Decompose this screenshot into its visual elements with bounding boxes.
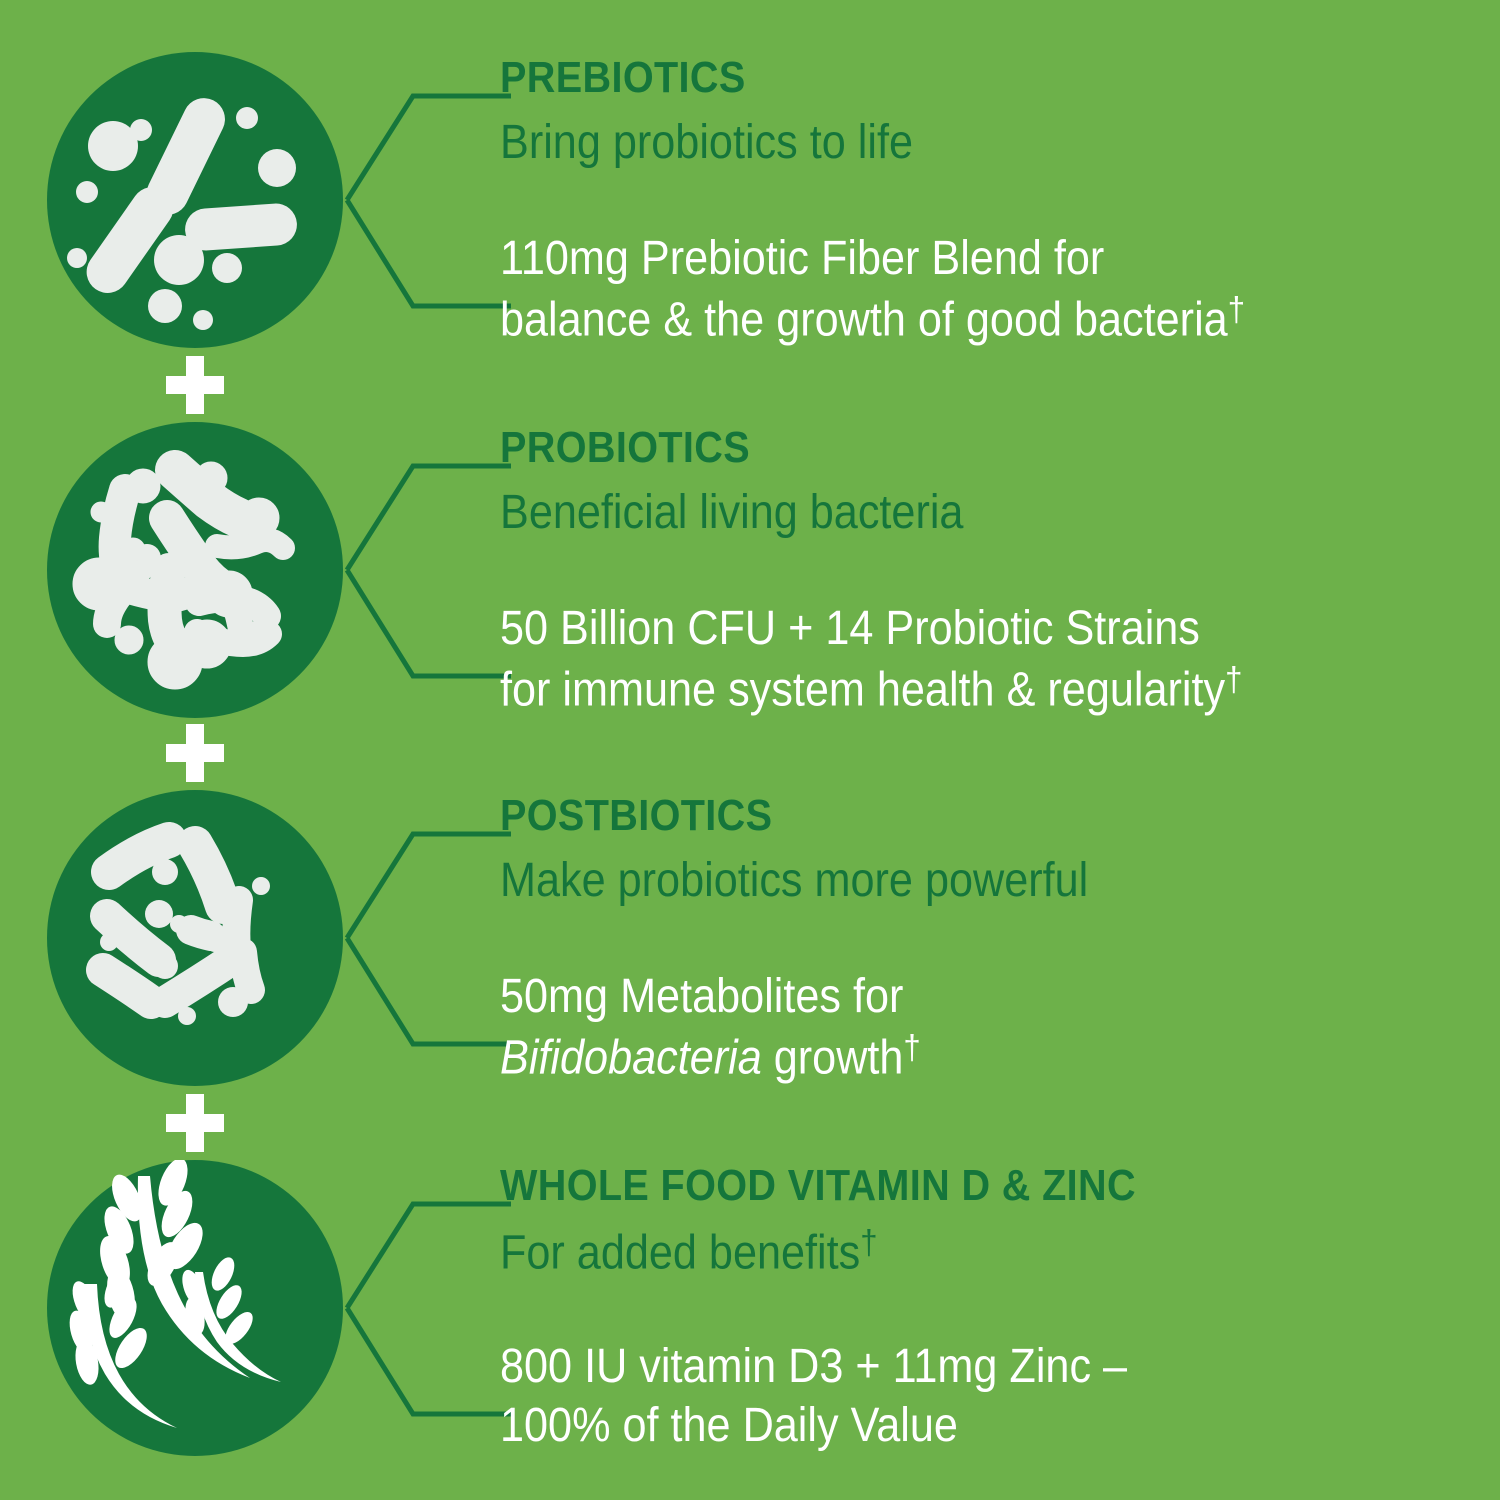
microbiome-network-icon — [47, 422, 343, 718]
detail-line-1: 50 Billion CFU + 14 Probiotic Strains — [500, 600, 1242, 659]
section-subheading-text: For added benefits — [500, 1227, 860, 1280]
section-detail: 50mg Metabolites for Bifidobacteria grow… — [500, 968, 921, 1088]
section-heading: POSTBIOTICS — [500, 794, 772, 838]
infographic-canvas: PREBIOTICS Bring probiotics to life 110m… — [0, 0, 1500, 1500]
icon-wrap-vitamin-d-zinc — [47, 1160, 343, 1456]
detail-line-1: 110mg Prebiotic Fiber Blend for — [500, 230, 1245, 289]
section-heading: PROBIOTICS — [500, 426, 750, 470]
section-subheading: Beneficial living bacteria — [500, 486, 963, 541]
dagger-symbol: † — [860, 1224, 877, 1262]
detail-line-2: 100% of the Daily Value — [500, 1397, 1127, 1456]
dagger-symbol: † — [1225, 661, 1242, 699]
bacilli-cluster-icon — [47, 790, 343, 1086]
detail-line-2-text: for immune system health & regularity — [500, 663, 1225, 716]
icon-wrap-postbiotics — [47, 790, 343, 1086]
detail-line-2-rest: growth — [762, 1031, 904, 1084]
section-detail: 50 Billion CFU + 14 Probiotic Strains fo… — [500, 600, 1242, 720]
icon-wrap-probiotics — [47, 422, 343, 718]
section-subheading: For added benefits† — [500, 1224, 878, 1281]
plus-separator-3 — [160, 1088, 230, 1158]
bacteria-rods-icon — [47, 52, 343, 348]
detail-line-2: balance & the growth of good bacteria† — [500, 289, 1245, 350]
dagger-symbol: † — [1228, 291, 1245, 329]
detail-line-2: for immune system health & regularity† — [500, 659, 1242, 720]
detail-line-1: 800 IU vitamin D3 + 11mg Zinc – — [500, 1338, 1127, 1397]
detail-line-1: 50mg Metabolites for — [500, 968, 921, 1027]
section-subheading: Make probiotics more powerful — [500, 854, 1088, 909]
section-detail: 110mg Prebiotic Fiber Blend for balance … — [500, 230, 1245, 350]
section-vitamin-d-zinc: WHOLE FOOD VITAMIN D & ZINC For added be… — [0, 1160, 1500, 1500]
plus-separator-1 — [160, 350, 230, 420]
section-heading: WHOLE FOOD VITAMIN D & ZINC — [500, 1164, 1136, 1208]
detail-line-2-text: balance & the growth of good bacteria — [500, 293, 1228, 346]
detail-line-2: Bifidobacteria growth† — [500, 1027, 921, 1088]
dagger-symbol: † — [903, 1029, 920, 1067]
plus-separator-2 — [160, 718, 230, 788]
section-detail: 800 IU vitamin D3 + 11mg Zinc – 100% of … — [500, 1338, 1127, 1455]
section-heading: PREBIOTICS — [500, 56, 746, 100]
icon-wrap-prebiotics — [47, 52, 343, 348]
section-subheading: Bring probiotics to life — [500, 116, 913, 171]
detail-line-2-italic: Bifidobacteria — [500, 1031, 762, 1084]
wheat-stalk-icon — [47, 1160, 343, 1456]
